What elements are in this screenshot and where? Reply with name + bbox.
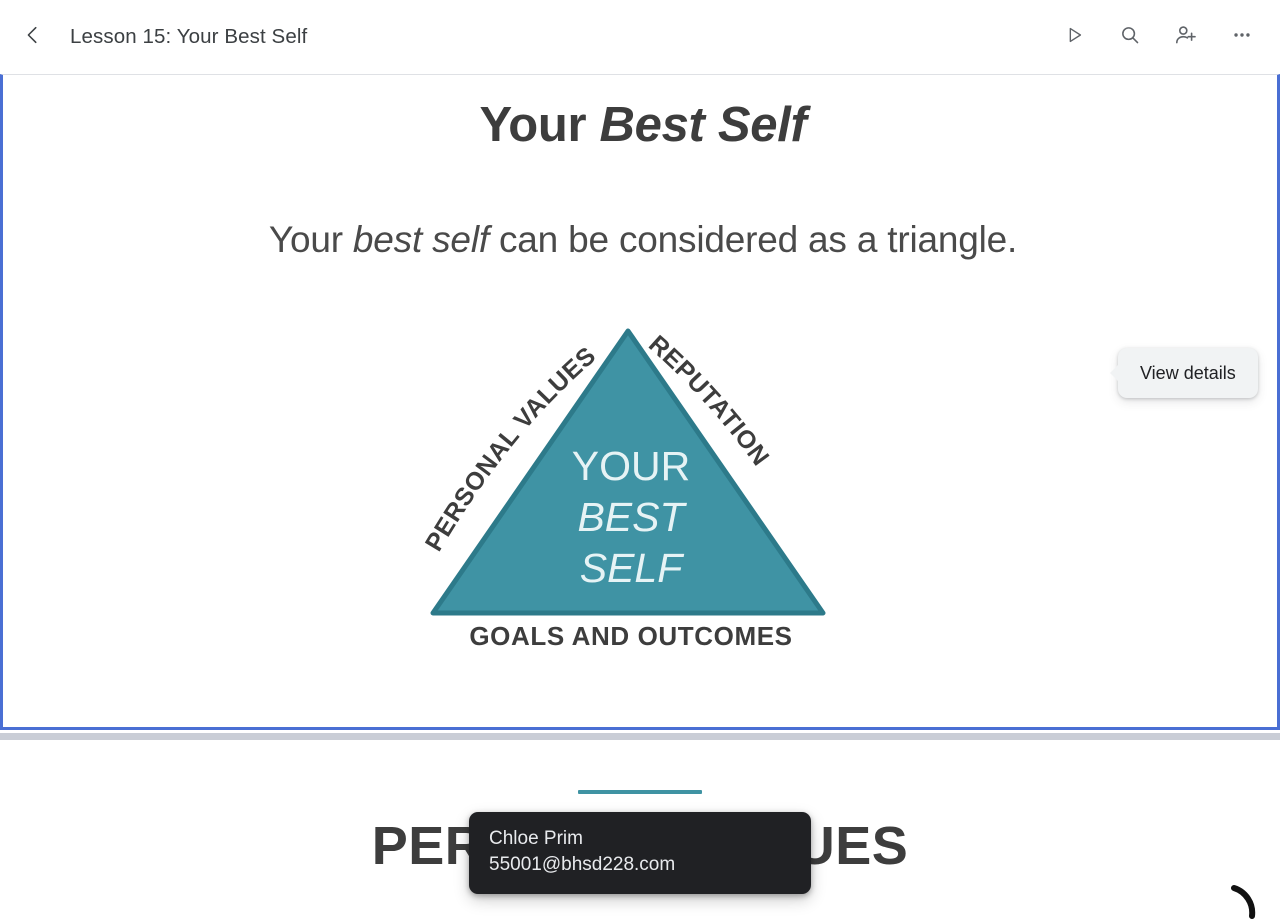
search-button[interactable]	[1106, 13, 1154, 61]
triangle-center-line1: YOUR	[572, 443, 690, 489]
play-triangle-icon	[1063, 24, 1085, 51]
more-horizontal-icon	[1231, 24, 1253, 51]
app-root: Lesson 15: Your Best Self	[0, 0, 1280, 924]
slide-title: Your Best Self	[3, 97, 1277, 153]
more-options-button[interactable]	[1218, 13, 1266, 61]
view-details-callout[interactable]: View details	[1118, 348, 1258, 398]
appbar-actions	[1042, 13, 1266, 61]
slide-subtitle-pre: Your	[269, 219, 353, 260]
back-button[interactable]	[10, 14, 56, 60]
slide-title-italic: Best Self	[600, 98, 807, 152]
loading-spinner-arc	[1228, 884, 1280, 924]
person-add-icon	[1174, 23, 1198, 52]
chevron-left-icon	[22, 24, 44, 51]
slide-subtitle-italic: best self	[353, 219, 489, 260]
page-title: Lesson 15: Your Best Self	[70, 25, 307, 49]
slide-subtitle-post: can be considered as a triangle.	[489, 219, 1017, 260]
triangle-center-line2: BEST	[577, 494, 687, 540]
user-email: 55001@bhsd228.com	[489, 852, 791, 878]
next-slide-accent-rule	[578, 790, 702, 794]
slide-divider	[0, 733, 1280, 740]
triangle-diagram[interactable]: YOUR BEST SELF PERSONAL VALUES REPUTATIO…	[413, 323, 843, 653]
app-bar: Lesson 15: Your Best Self	[0, 0, 1280, 74]
slide-content: Your Best Self Your best self can be con…	[3, 75, 1277, 727]
slide-canvas[interactable]: Your Best Self Your best self can be con…	[0, 74, 1280, 730]
triangle-center-line3: SELF	[580, 545, 684, 591]
view-details-label: View details	[1140, 363, 1236, 384]
user-info-tooltip: Chloe Prim 55001@bhsd228.com	[469, 812, 811, 894]
triangle-label-bottom: GOALS AND OUTCOMES	[469, 621, 792, 651]
slide-title-plain: Your	[479, 98, 599, 152]
user-name: Chloe Prim	[489, 826, 791, 852]
add-person-button[interactable]	[1162, 13, 1210, 61]
slide-subtitle: Your best self can be considered as a tr…	[3, 219, 1277, 261]
search-icon	[1119, 24, 1141, 51]
present-button[interactable]	[1050, 13, 1098, 61]
